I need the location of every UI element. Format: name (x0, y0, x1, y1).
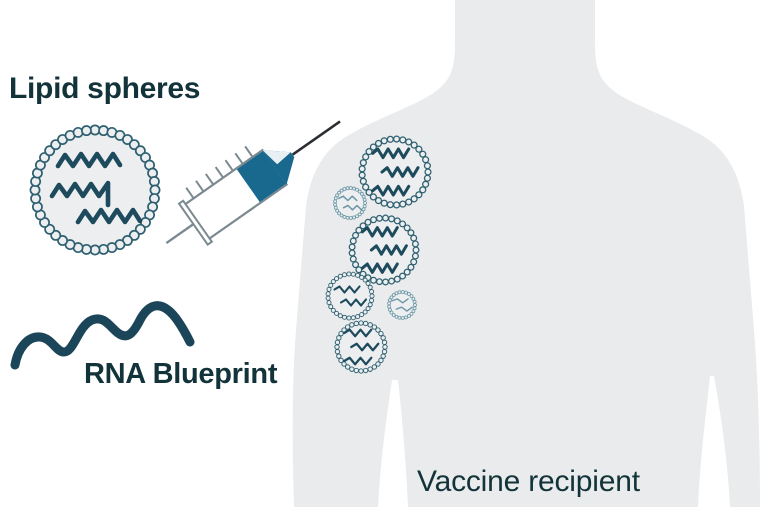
lipid-bead (383, 345, 387, 349)
lipid-bead (368, 285, 372, 289)
lipid-bead (371, 217, 377, 223)
lipid-bead (425, 169, 431, 175)
lipid-bead (349, 216, 352, 219)
lipid-bead (326, 296, 330, 300)
lipid-bead (342, 273, 346, 277)
lipid-bead (387, 202, 393, 208)
lipid-bead (364, 202, 367, 205)
lipid-bead (389, 278, 395, 284)
lipid-bead (370, 294, 374, 298)
lipid-bead (388, 305, 391, 308)
lipid-bead (359, 166, 365, 172)
lipid-bead (381, 138, 387, 144)
lipid-bead (363, 321, 367, 325)
lipid-bead (353, 262, 359, 268)
lipid-bead (363, 205, 366, 208)
lipid-bead (359, 369, 363, 373)
lipid-bead (389, 216, 395, 222)
lipid-bead (356, 215, 359, 218)
lipid-bead (370, 298, 374, 302)
lipid-bead (362, 195, 365, 198)
lipid-bead (345, 325, 349, 329)
lipid-bead (360, 313, 364, 317)
lipid-bead (343, 188, 346, 191)
lipid-bead (377, 215, 383, 221)
label-rna-blueprint: RNA Blueprint (84, 360, 277, 389)
lipid-bead (406, 199, 412, 205)
lipid-bead (327, 287, 331, 291)
lipid-bead (346, 187, 349, 190)
lipid-bead (395, 292, 398, 295)
lipid-bead (335, 340, 339, 344)
figure-canvas: Lipid spheres RNA Blueprint Vaccine reci… (0, 0, 760, 507)
lipid-bead (381, 336, 385, 340)
lipid-bead (413, 307, 416, 310)
rna-blueprint-strand (15, 306, 190, 365)
lipid-bead (368, 323, 372, 327)
lipid-bead (363, 198, 366, 201)
lipid-bead (354, 368, 358, 372)
lipid-bead (363, 184, 369, 190)
lipid-bead (351, 272, 355, 276)
lipid-bead (356, 315, 360, 319)
lipid-bead (329, 305, 333, 309)
lipid-bead (366, 281, 370, 285)
lipid-bead (423, 157, 429, 163)
lipid-bead (337, 336, 341, 340)
lipid-bead (424, 163, 430, 169)
lipid-bead (394, 202, 400, 208)
lipid-bead (382, 340, 386, 344)
lipid-bead (383, 215, 389, 221)
lipid-bead (411, 235, 417, 241)
lipid-sphere (359, 136, 431, 208)
lipid-bead (411, 259, 417, 265)
lipid-bead (349, 187, 352, 190)
lipid-bead (379, 331, 383, 335)
lipid-bead (368, 367, 372, 371)
lipid-bead (363, 368, 367, 372)
lipid-bead (359, 172, 365, 178)
lipid-bead (342, 315, 346, 319)
lipid-bead (349, 250, 355, 256)
lipid-bead (360, 160, 366, 166)
lipid-sphere (388, 291, 417, 320)
lipid-bead (339, 358, 343, 362)
lipid-bead (412, 297, 415, 300)
lipid-bead (405, 291, 408, 294)
lipid-bead (335, 345, 339, 349)
lipid-bead (353, 187, 356, 190)
lipid-bead (407, 314, 410, 317)
label-vaccine-recipient: Vaccine recipient (417, 467, 640, 497)
lipid-bead (334, 203, 337, 206)
lipid-bead (368, 303, 372, 307)
lipid-bead (394, 136, 400, 142)
lipid-bead (424, 175, 430, 181)
lipid-bead (400, 201, 406, 207)
lipid-bead (388, 308, 391, 311)
lipid-bead (401, 316, 404, 319)
lipid-bead (350, 367, 354, 371)
lipid-bead (377, 279, 383, 285)
lipid-bead (349, 244, 355, 250)
lipid-bead (381, 354, 385, 358)
lipid-bead (350, 256, 356, 262)
lipid-bead (334, 277, 338, 281)
lipid-bead (347, 272, 351, 276)
lipid-sphere (326, 272, 374, 320)
lipid-bead (413, 253, 419, 259)
lipid-bead (347, 316, 351, 320)
lipid-bead (337, 354, 341, 358)
lipid-bead (381, 200, 387, 206)
lipid-bead (346, 216, 349, 219)
lipid-bead (405, 316, 408, 319)
lipid-bead (372, 365, 376, 369)
lipid-bead (359, 321, 363, 325)
lipid-bead (351, 316, 355, 320)
lipid-bead (388, 302, 391, 305)
lipid-bead (394, 276, 400, 282)
lipid-bead (398, 291, 401, 294)
label-lipid-spheres: Lipid spheres (9, 74, 200, 104)
lipid-bead (400, 137, 406, 143)
lipid-bead (398, 316, 401, 319)
lipid-bead (350, 238, 356, 244)
lipid-bead (365, 219, 371, 225)
lipid-bead (413, 247, 419, 253)
lipid-bead (401, 291, 404, 294)
lipid-bead (383, 279, 389, 285)
lipid-bead (414, 304, 417, 307)
lipid-bead (338, 314, 342, 318)
lipid-bead (334, 206, 337, 209)
lipid-bead (338, 274, 342, 278)
lipid-bead (370, 290, 374, 294)
lipid-bead (335, 349, 339, 353)
lipid-bead (353, 216, 356, 219)
lipid-bead (82, 126, 91, 135)
lipid-bead (413, 241, 419, 247)
lipid-bead (376, 140, 382, 146)
lipid-bead (360, 178, 366, 184)
lipid-bead (420, 151, 426, 157)
lipid-bead (326, 292, 330, 296)
lipid-bead (334, 200, 337, 203)
lipid-sphere (335, 321, 387, 373)
lipid-bead (336, 209, 339, 212)
lipid-bead (334, 197, 337, 200)
lipid-bead (408, 230, 414, 236)
lipid-bead (327, 301, 331, 305)
lipid-bead (423, 181, 429, 187)
lipid-bead (382, 349, 386, 353)
lipid-bead (356, 273, 360, 277)
lipid-bead (371, 277, 377, 283)
lipid-bead (413, 300, 416, 303)
lipid-bead (354, 321, 358, 325)
lipid-sphere-large-legend (30, 125, 159, 254)
lipid-sphere (334, 187, 367, 220)
lipid-bead (387, 136, 393, 142)
lipid-bead (350, 323, 354, 327)
